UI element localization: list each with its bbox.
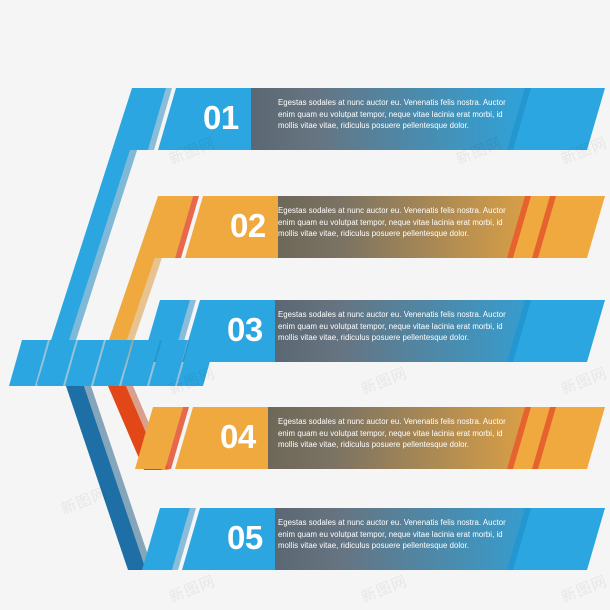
- row-02-bar[interactable]: [145, 196, 605, 258]
- row-01-number-panel: [196, 88, 251, 150]
- infographic-root: 01 02 03 04 05 Egestas sodales at nunc a…: [0, 0, 610, 610]
- row-04-bar[interactable]: [135, 407, 605, 469]
- row-05-bar[interactable]: [142, 508, 605, 570]
- connector-hub[interactable]: [9, 340, 216, 386]
- row-01-bar[interactable]: [118, 88, 605, 150]
- row-05-number-panel: [220, 508, 275, 570]
- row-04-number-panel: [213, 407, 268, 469]
- infographic-vector-layer: [0, 0, 610, 610]
- row-01-body-panel: [251, 88, 540, 150]
- row-02-number-panel: [223, 196, 278, 258]
- row-03-number-panel: [220, 300, 275, 362]
